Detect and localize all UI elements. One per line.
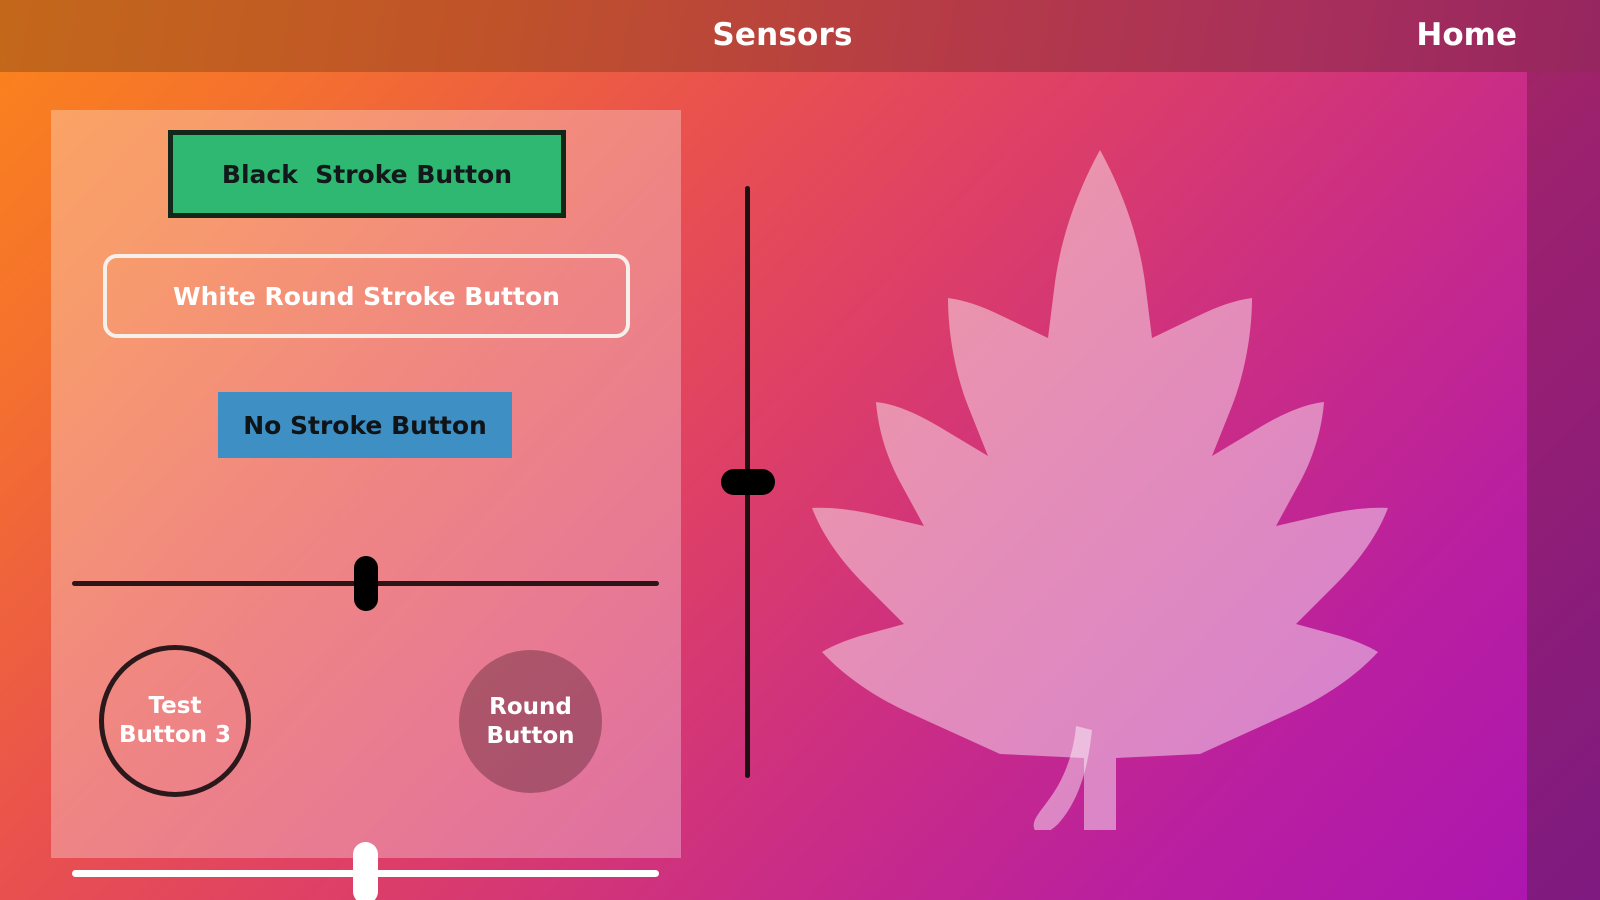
vertical-slider[interactable] [718, 186, 778, 786]
test-button-3-label-line1: Test [149, 693, 202, 719]
test-button-3-label-line2: Button 3 [119, 722, 231, 748]
maple-leaf-icon [800, 130, 1400, 830]
round-button-label: Round Button [486, 693, 574, 751]
page-title: Sensors [0, 0, 1565, 72]
round-button-label-line2: Button [486, 723, 574, 749]
round-button-label-line1: Round [489, 694, 572, 720]
no-stroke-button[interactable]: No Stroke Button [218, 392, 512, 458]
main-content-area: Black Stroke Button White Round Stroke B… [0, 72, 1527, 900]
test-button-3[interactable]: Test Button 3 [99, 645, 251, 797]
home-nav-link[interactable]: Home [1416, 0, 1517, 72]
app-header: Sensors Home [0, 0, 1600, 72]
horizontal-slider-white-thumb[interactable] [353, 842, 378, 900]
horizontal-slider-dark-thumb[interactable] [354, 556, 378, 611]
vertical-slider-thumb[interactable] [721, 469, 775, 495]
black-stroke-button[interactable]: Black Stroke Button [168, 130, 566, 218]
horizontal-slider-white[interactable] [72, 838, 659, 900]
horizontal-slider-dark[interactable] [72, 548, 659, 618]
controls-panel: Black Stroke Button White Round Stroke B… [51, 110, 681, 858]
round-button[interactable]: Round Button [459, 650, 602, 793]
test-button-3-label: Test Button 3 [119, 692, 231, 750]
white-round-stroke-button[interactable]: White Round Stroke Button [103, 254, 630, 338]
app-screen: Black Stroke Button White Round Stroke B… [0, 0, 1600, 900]
